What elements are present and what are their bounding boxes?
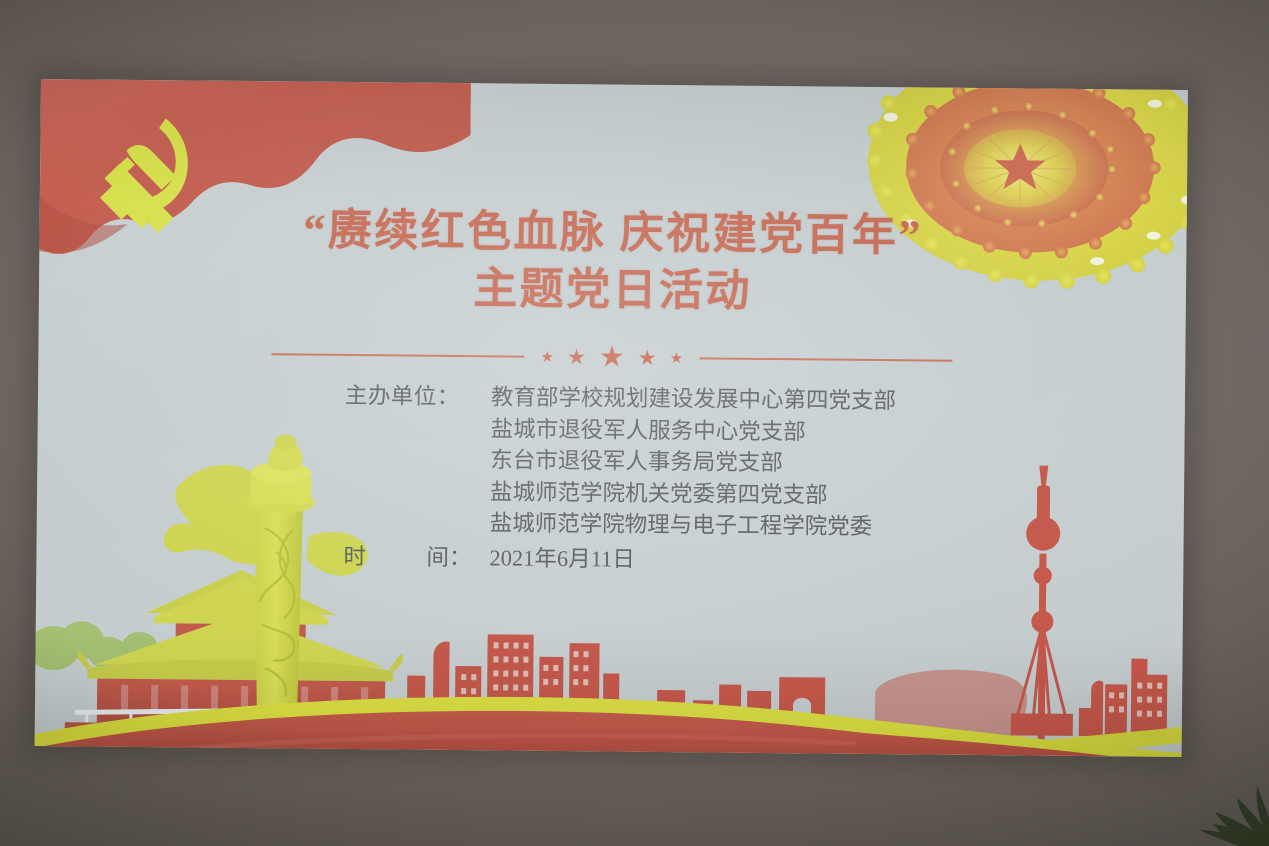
- divider-rule-left: [272, 353, 525, 357]
- star-divider: ★ ★ ★ ★ ★: [38, 337, 1185, 378]
- plant-leaf: [1129, 768, 1269, 846]
- time-label-start: 时: [343, 540, 366, 572]
- organizer-value-2: 盐城市退役军人服务中心党支部: [491, 413, 896, 448]
- time-label-end: 间：: [426, 541, 471, 573]
- divider-star-5: ★: [670, 351, 684, 366]
- divider-stars: ★ ★ ★ ★ ★: [524, 342, 699, 373]
- slide-title-block: “赓续红色血脉 庆祝建党百年” 主题党日活动: [39, 203, 1187, 321]
- organizer-row-1: 主办单位： 教育部学校规划建设发展中心第四党支部: [345, 380, 896, 417]
- divider-rule-right: [699, 357, 952, 361]
- organizer-value-4: 盐城师范学院机关党委第四党支部: [490, 476, 895, 511]
- organizer-value-3: 东台市退役军人事务局党支部: [490, 444, 895, 479]
- time-row: 时 间： 2021年6月11日: [343, 540, 894, 577]
- organizer-label: 主办单位：: [345, 380, 491, 413]
- organizer-value-1: 教育部学校规划建设发展中心第四党支部: [491, 381, 896, 416]
- organizer-value-5: 盐城师范学院物理与电子工程学院党委: [490, 507, 895, 542]
- projection-screen: “赓续红色血脉 庆祝建党百年” 主题党日活动 ★ ★ ★ ★ ★ 主办单位：: [35, 79, 1188, 757]
- oriental-pearl-tower: [1011, 465, 1076, 744]
- slide-details-block: 主办单位： 教育部学校规划建设发展中心第四党支部 盐城市退役军人服务中心党支部 …: [343, 380, 896, 577]
- divider-star-3: ★: [599, 343, 625, 372]
- time-value: 2021年6月11日: [489, 542, 635, 575]
- time-label: 时 间：: [343, 540, 489, 573]
- divider-star-4: ★: [638, 347, 657, 368]
- room-scene: “赓续红色血脉 庆祝建党百年” 主题党日活动 ★ ★ ★ ★ ★ 主办单位：: [0, 0, 1269, 846]
- presentation-slide: “赓续红色血脉 庆祝建党百年” 主题党日活动 ★ ★ ★ ★ ★ 主办单位：: [35, 79, 1188, 757]
- divider-star-2: ★: [567, 347, 586, 368]
- title-line-1: “赓续红色血脉 庆祝建党百年”: [39, 203, 1186, 263]
- title-line-2: 主题党日活动: [39, 260, 1186, 320]
- divider-star-1: ★: [541, 349, 555, 364]
